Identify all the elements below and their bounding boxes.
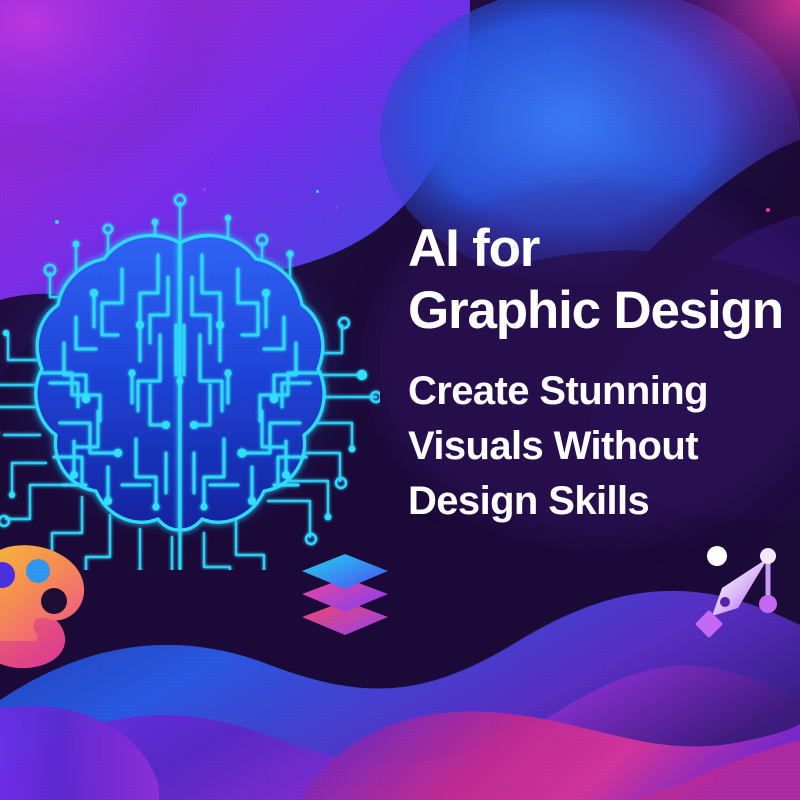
pen-anchor-point-left	[707, 546, 727, 566]
pen-nib-body	[712, 558, 768, 616]
pen-nib-tip	[695, 610, 723, 638]
pen-nib-hole	[720, 597, 730, 607]
circuit-brain-illustration	[0, 185, 380, 570]
banner-canvas: AI for Graphic Design Create Stunning Vi…	[0, 0, 800, 800]
layers-stack-icon	[296, 545, 394, 643]
pen-anchor-point-top	[760, 548, 776, 564]
layers-top-layer	[302, 554, 388, 589]
subtitle-line-1: Create Stunning	[408, 364, 800, 419]
brain-graphic-container	[0, 185, 380, 570]
headline-line-2: Graphic Design	[408, 280, 800, 342]
subtitle: Create Stunning Visuals Without Design S…	[408, 364, 800, 529]
subtitle-line-3: Design Skills	[408, 474, 800, 529]
subtitle-line-2: Visuals Without	[408, 419, 800, 474]
headline-text-block: AI for Graphic Design Create Stunning Vi…	[408, 218, 800, 529]
pen-anchor-point-bottom	[759, 595, 777, 613]
palette-thumb-hole	[41, 588, 67, 614]
headline-line-1: AI for	[408, 218, 800, 280]
headline: AI for Graphic Design	[408, 218, 800, 342]
artist-palette-icon	[0, 533, 98, 641]
palette-body	[0, 545, 84, 641]
pen-tool-icon	[692, 536, 792, 640]
palette-paint-dot-blue	[26, 559, 50, 583]
